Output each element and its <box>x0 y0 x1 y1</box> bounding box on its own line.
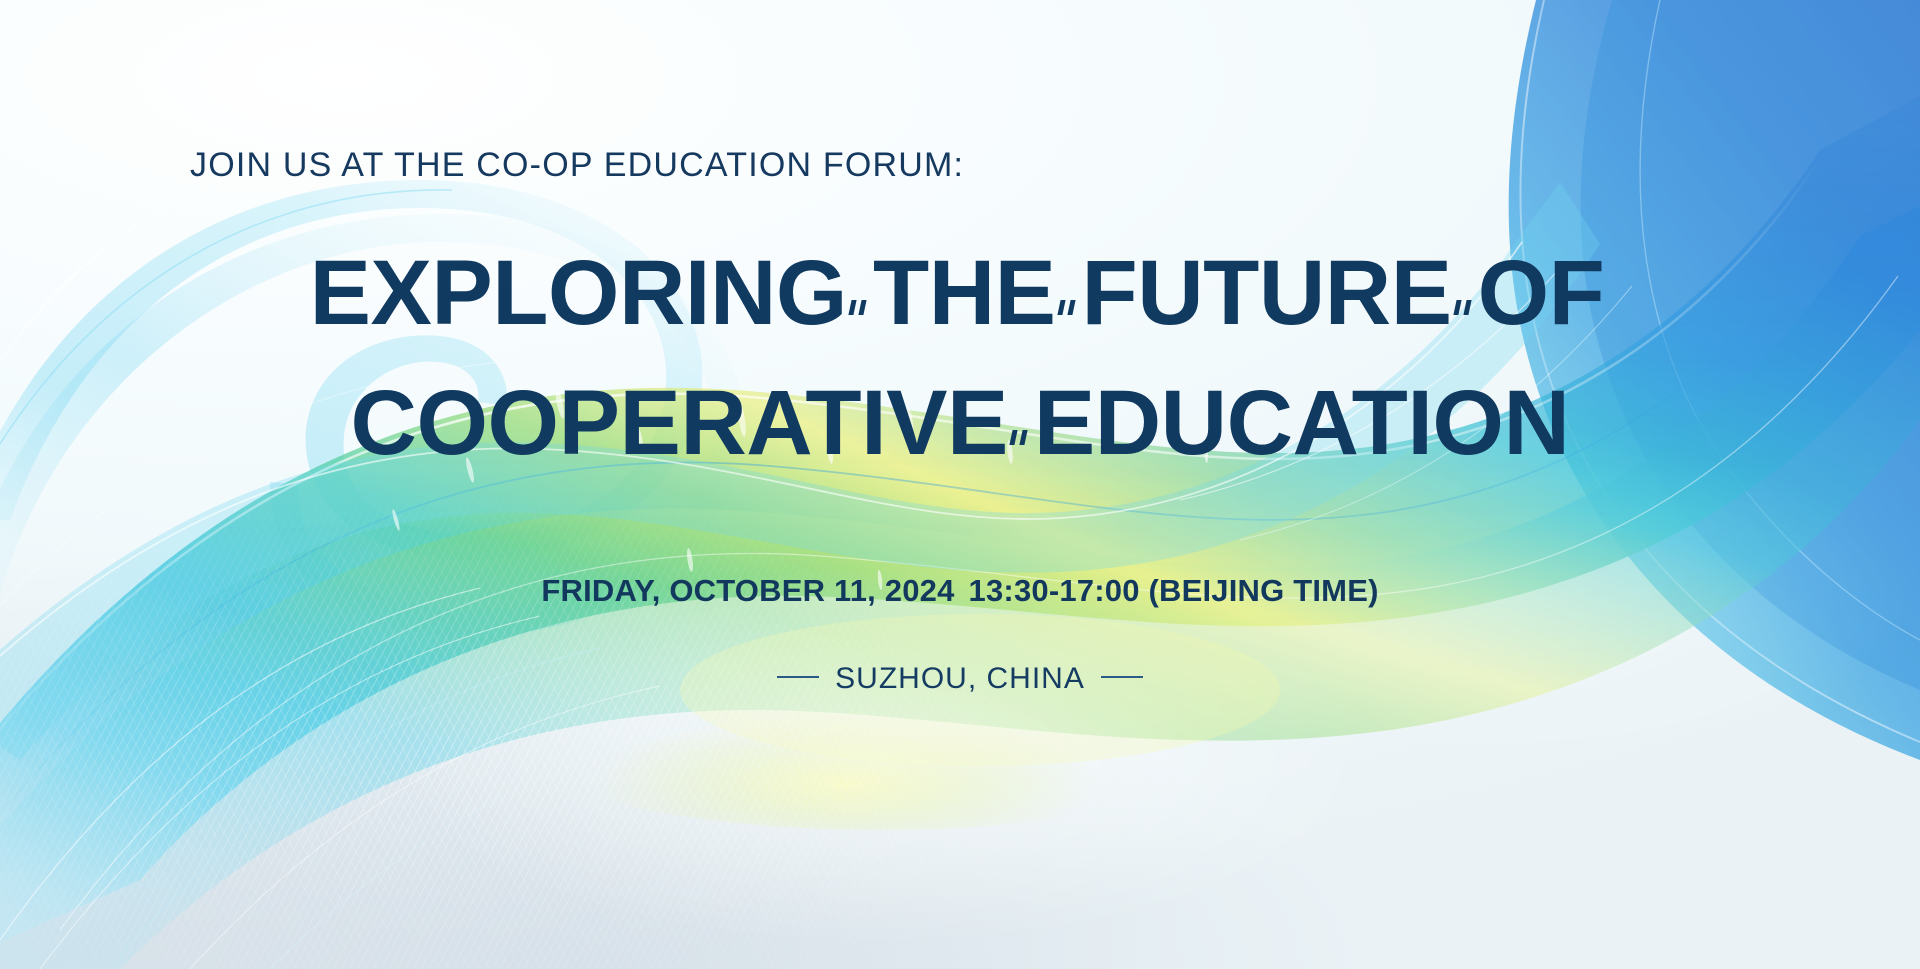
headline-line-2: COOPERATIVEEDUCATION <box>0 362 1920 468</box>
headline-word-future: FUTURE <box>1082 242 1452 344</box>
event-date: FRIDAY, OCTOBER 11, 2024 <box>541 573 954 608</box>
headline: EXPLORINGTHEFUTUREOF COOPERATIVEEDUCATIO… <box>0 232 1920 468</box>
event-banner: JOIN US AT THE CO-OP EDUCATION FORUM: EX… <box>0 0 1920 969</box>
location-rule-right-icon <box>1101 676 1143 678</box>
headline-word-of: OF <box>1478 242 1605 344</box>
headline-word-cooperative: COOPERATIVE <box>351 372 1008 474</box>
headline-word-the: THE <box>873 242 1056 344</box>
location-rule-left-icon <box>777 676 819 678</box>
word-separator-tick-icon <box>1056 232 1082 324</box>
headline-line-1: EXPLORINGTHEFUTUREOF <box>0 232 1920 338</box>
word-separator-tick-icon <box>847 232 873 324</box>
event-datetime: FRIDAY, OCTOBER 11, 202413:30-17:00 (BEI… <box>0 573 1920 609</box>
headline-word-exploring: EXPLORING <box>310 242 847 344</box>
event-location: SUZHOU, CHINA <box>0 662 1920 696</box>
headline-word-education: EDUCATION <box>1034 372 1570 474</box>
eyebrow-text: JOIN US AT THE CO-OP EDUCATION FORUM: <box>190 148 964 182</box>
event-time: 13:30-17:00 (BEIJING TIME) <box>969 573 1379 608</box>
word-separator-tick-icon <box>1008 362 1034 454</box>
location-text: SUZHOU, CHINA <box>835 662 1085 695</box>
banner-content: JOIN US AT THE CO-OP EDUCATION FORUM: EX… <box>0 0 1920 969</box>
word-separator-tick-icon <box>1452 232 1478 324</box>
